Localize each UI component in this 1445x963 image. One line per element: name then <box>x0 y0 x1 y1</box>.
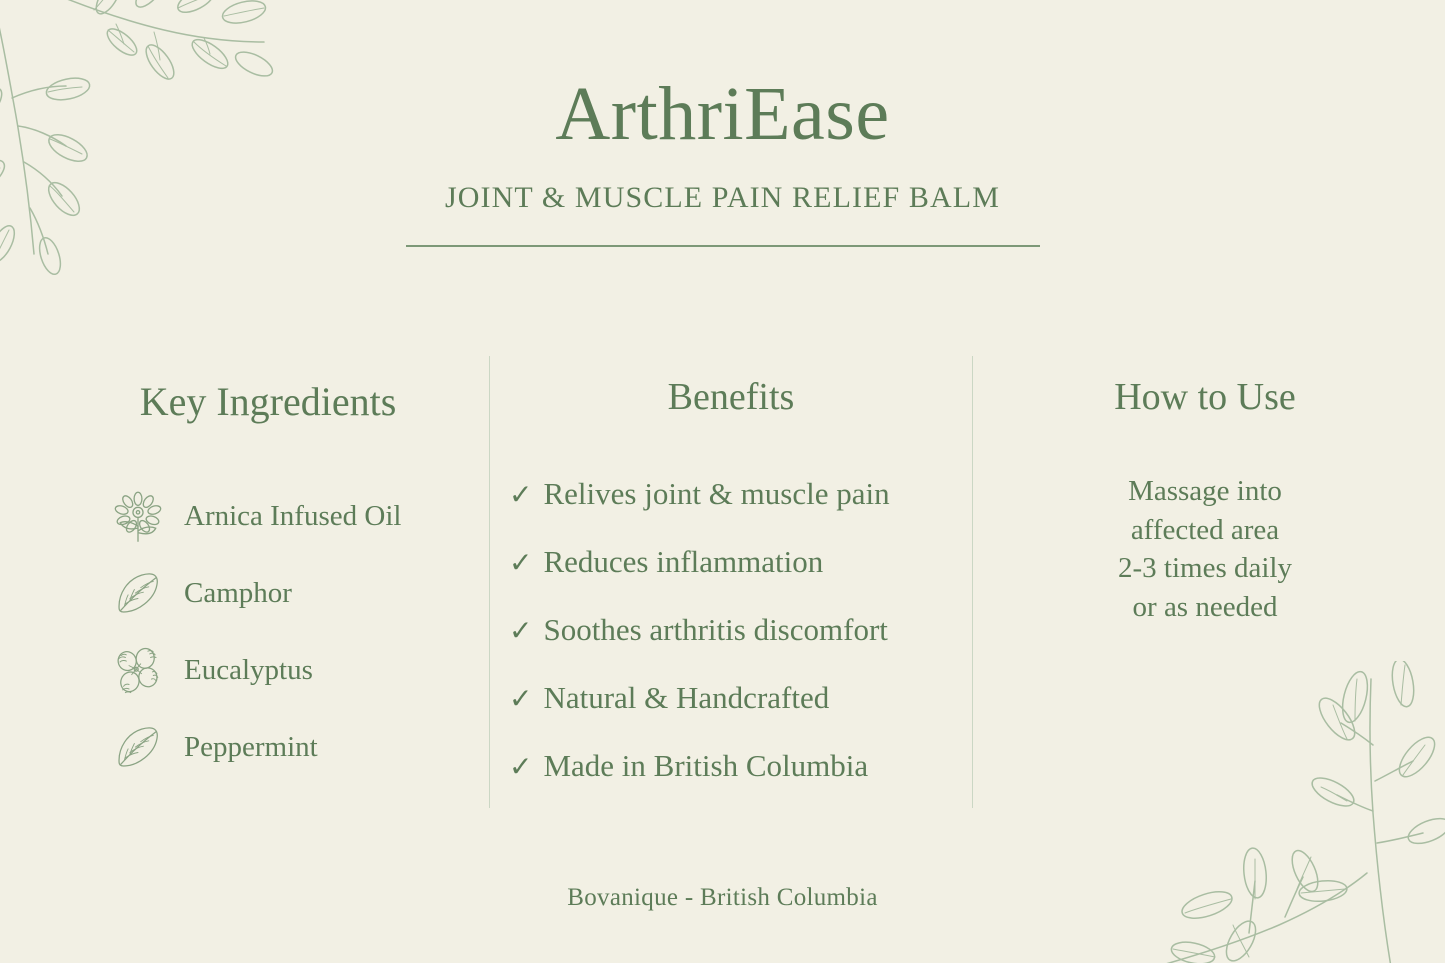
benefit-list: ✓ Relives joint & muscle pain ✓ Reduces … <box>495 416 967 816</box>
content-columns: Key Ingredients <box>0 356 1445 811</box>
ingredient-list: Arnica Infused Oil <box>62 422 474 786</box>
column-benefits: Benefits ✓ Relives joint & muscle pain ✓… <box>495 356 967 816</box>
check-icon: ✓ <box>509 682 543 716</box>
howto-line: or as needed <box>985 588 1425 627</box>
benefit-label: Reduces inflammation <box>543 544 823 580</box>
list-item: Peppermint <box>62 709 474 786</box>
list-item: ✓ Made in British Columbia <box>495 748 967 816</box>
ingredient-label: Camphor <box>168 577 292 610</box>
benefit-label: Made in British Columbia <box>543 748 868 784</box>
benefit-label: Soothes arthritis discomfort <box>543 612 887 648</box>
list-item: ✓ Reduces inflammation <box>495 544 967 612</box>
column-title-ingredients: Key Ingredients <box>62 356 474 422</box>
column-how-to-use: How to Use Massage into affected area 2-… <box>985 356 1425 626</box>
benefit-label: Relives joint & muscle pain <box>543 476 889 512</box>
list-item: Arnica Infused Oil <box>62 478 474 555</box>
check-icon: ✓ <box>509 546 543 580</box>
header: ArthriEase JOINT & MUSCLE PAIN RELIEF BA… <box>0 0 1445 247</box>
howto-line: affected area <box>985 511 1425 550</box>
column-title-howto: How to Use <box>985 356 1425 416</box>
page-title: ArthriEase <box>0 0 1445 152</box>
list-item: ✓ Natural & Handcrafted <box>495 680 967 748</box>
daisy-flower-icon <box>108 487 168 547</box>
ingredient-label: Arnica Infused Oil <box>168 500 401 533</box>
ingredient-label: Eucalyptus <box>168 654 313 687</box>
header-divider-rule <box>406 245 1040 247</box>
page-subtitle: JOINT & MUSCLE PAIN RELIEF BALM <box>0 152 1445 213</box>
list-item: ✓ Soothes arthritis discomfort <box>495 612 967 680</box>
howto-line: 2-3 times daily <box>985 549 1425 588</box>
column-key-ingredients: Key Ingredients <box>62 356 474 786</box>
check-icon: ✓ <box>509 750 543 784</box>
list-item: ✓ Relives joint & muscle pain <box>495 476 967 544</box>
column-divider-left <box>489 356 490 808</box>
leaf-icon <box>108 718 168 778</box>
footer-brand-location: Bovanique - British Columbia <box>0 884 1445 912</box>
howto-instructions: Massage into affected area 2-3 times dai… <box>985 416 1425 626</box>
howto-line: Massage into <box>985 472 1425 511</box>
check-icon: ✓ <box>509 614 543 648</box>
column-title-benefits: Benefits <box>495 356 967 416</box>
list-item: Eucalyptus <box>62 632 474 709</box>
eucalyptus-pods-icon <box>108 641 168 701</box>
benefit-label: Natural & Handcrafted <box>543 680 829 716</box>
leaf-icon <box>108 564 168 624</box>
label-canvas: ArthriEase JOINT & MUSCLE PAIN RELIEF BA… <box>0 0 1445 963</box>
column-divider-right <box>972 356 973 808</box>
list-item: Camphor <box>62 555 474 632</box>
ingredient-label: Peppermint <box>168 731 318 764</box>
check-icon: ✓ <box>509 478 543 512</box>
